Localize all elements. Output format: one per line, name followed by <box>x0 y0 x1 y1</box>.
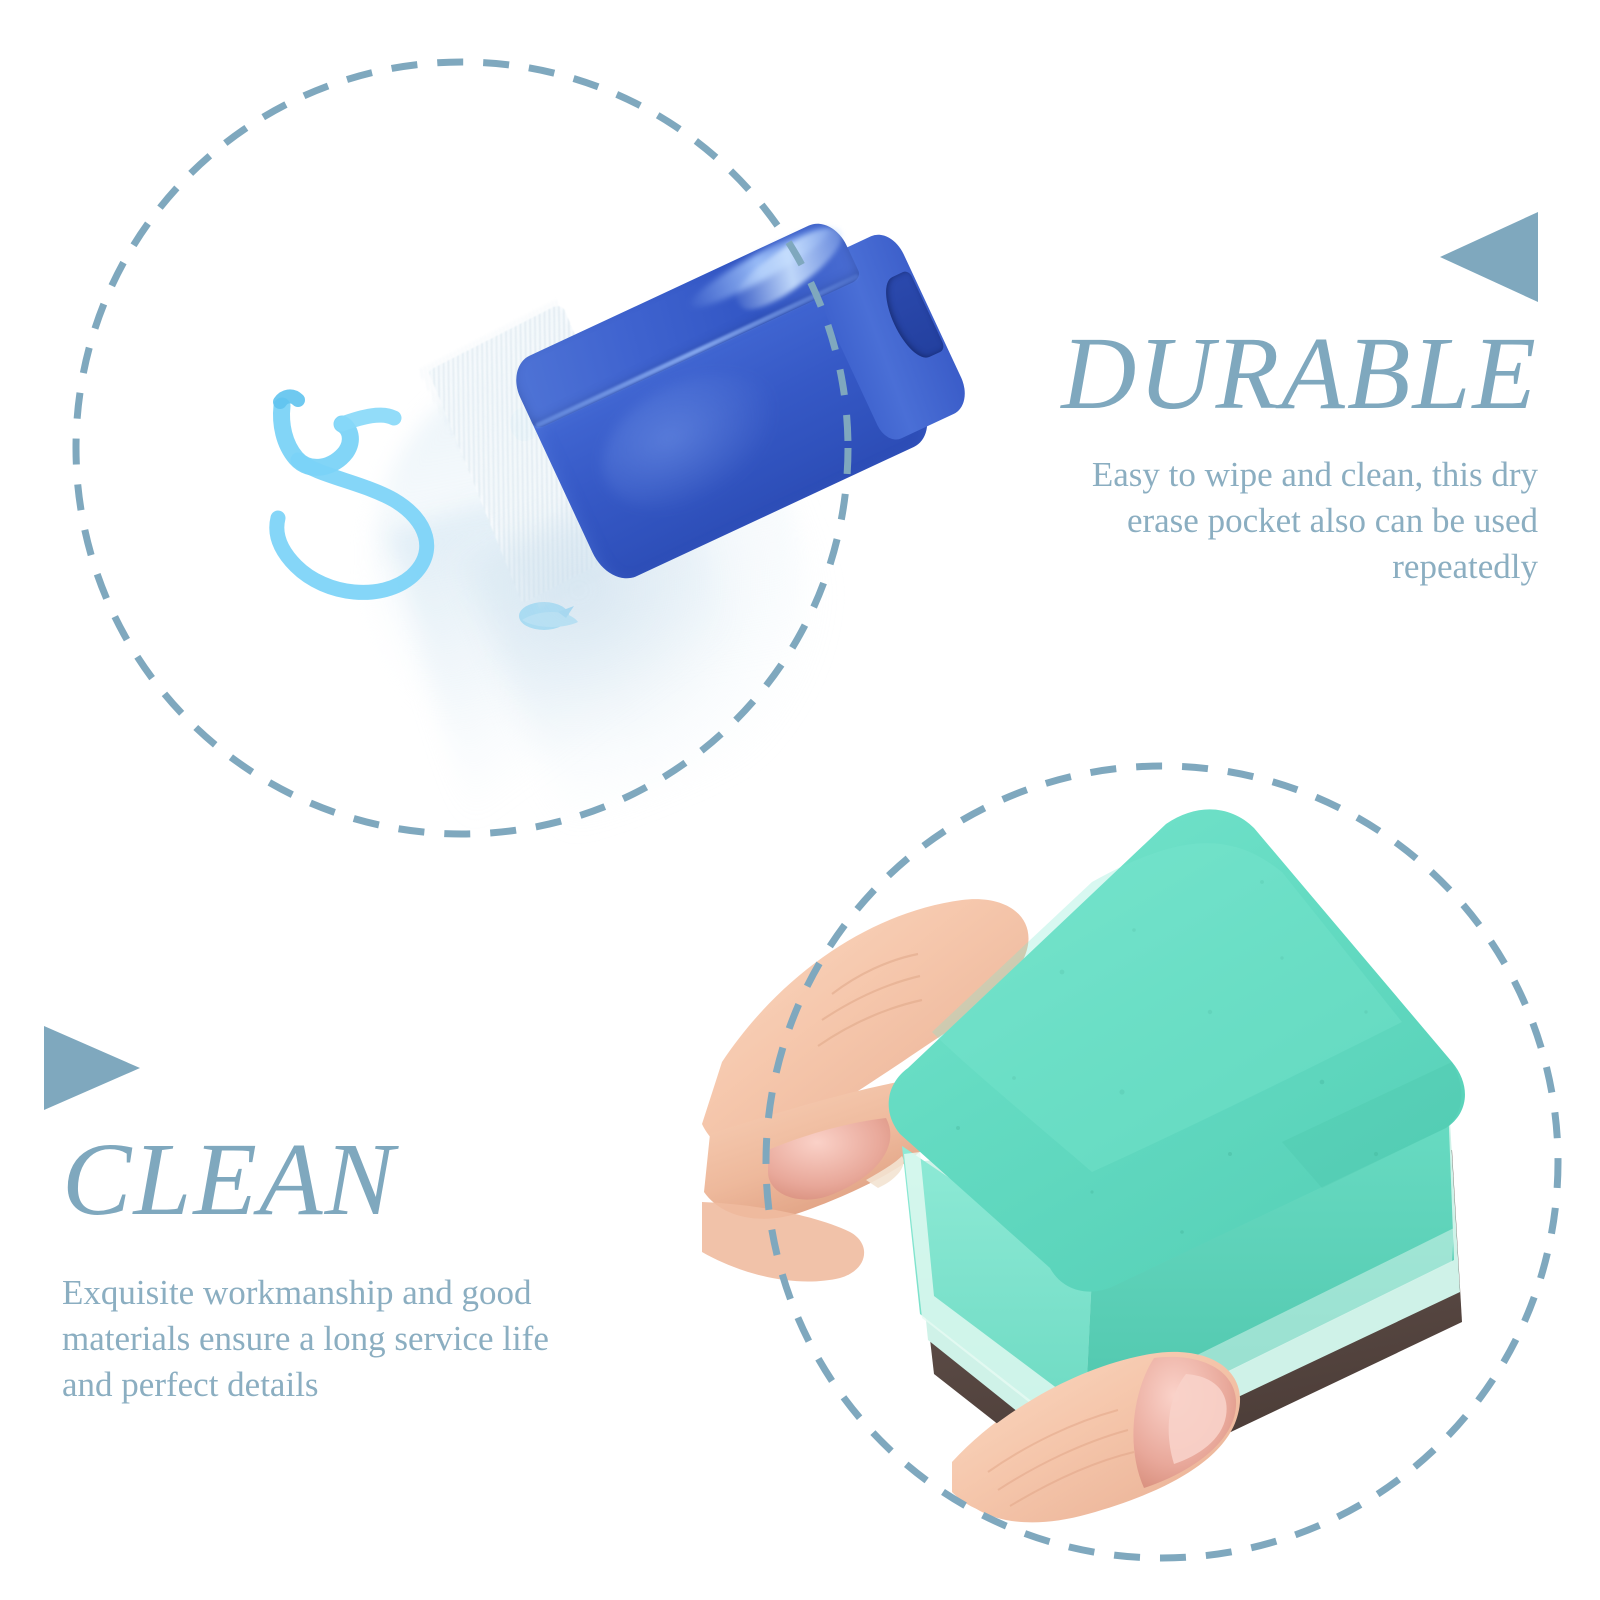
durable-heading: DURABLE <box>1061 322 1538 426</box>
triangle-left-icon <box>1440 212 1538 302</box>
dashed-circle-frame-bottom <box>762 762 1562 1562</box>
clean-heading: CLEAN <box>62 1128 396 1232</box>
product-feature-infographic: DURABLE Easy to wipe and clean, this dry… <box>0 0 1600 1600</box>
clean-description: Exquisite workmanship and good materials… <box>62 1270 602 1409</box>
dashed-circle-frame-top <box>72 58 852 838</box>
durable-description: Easy to wipe and clean, this dry erase p… <box>1028 452 1538 591</box>
triangle-right-icon <box>44 1026 140 1110</box>
